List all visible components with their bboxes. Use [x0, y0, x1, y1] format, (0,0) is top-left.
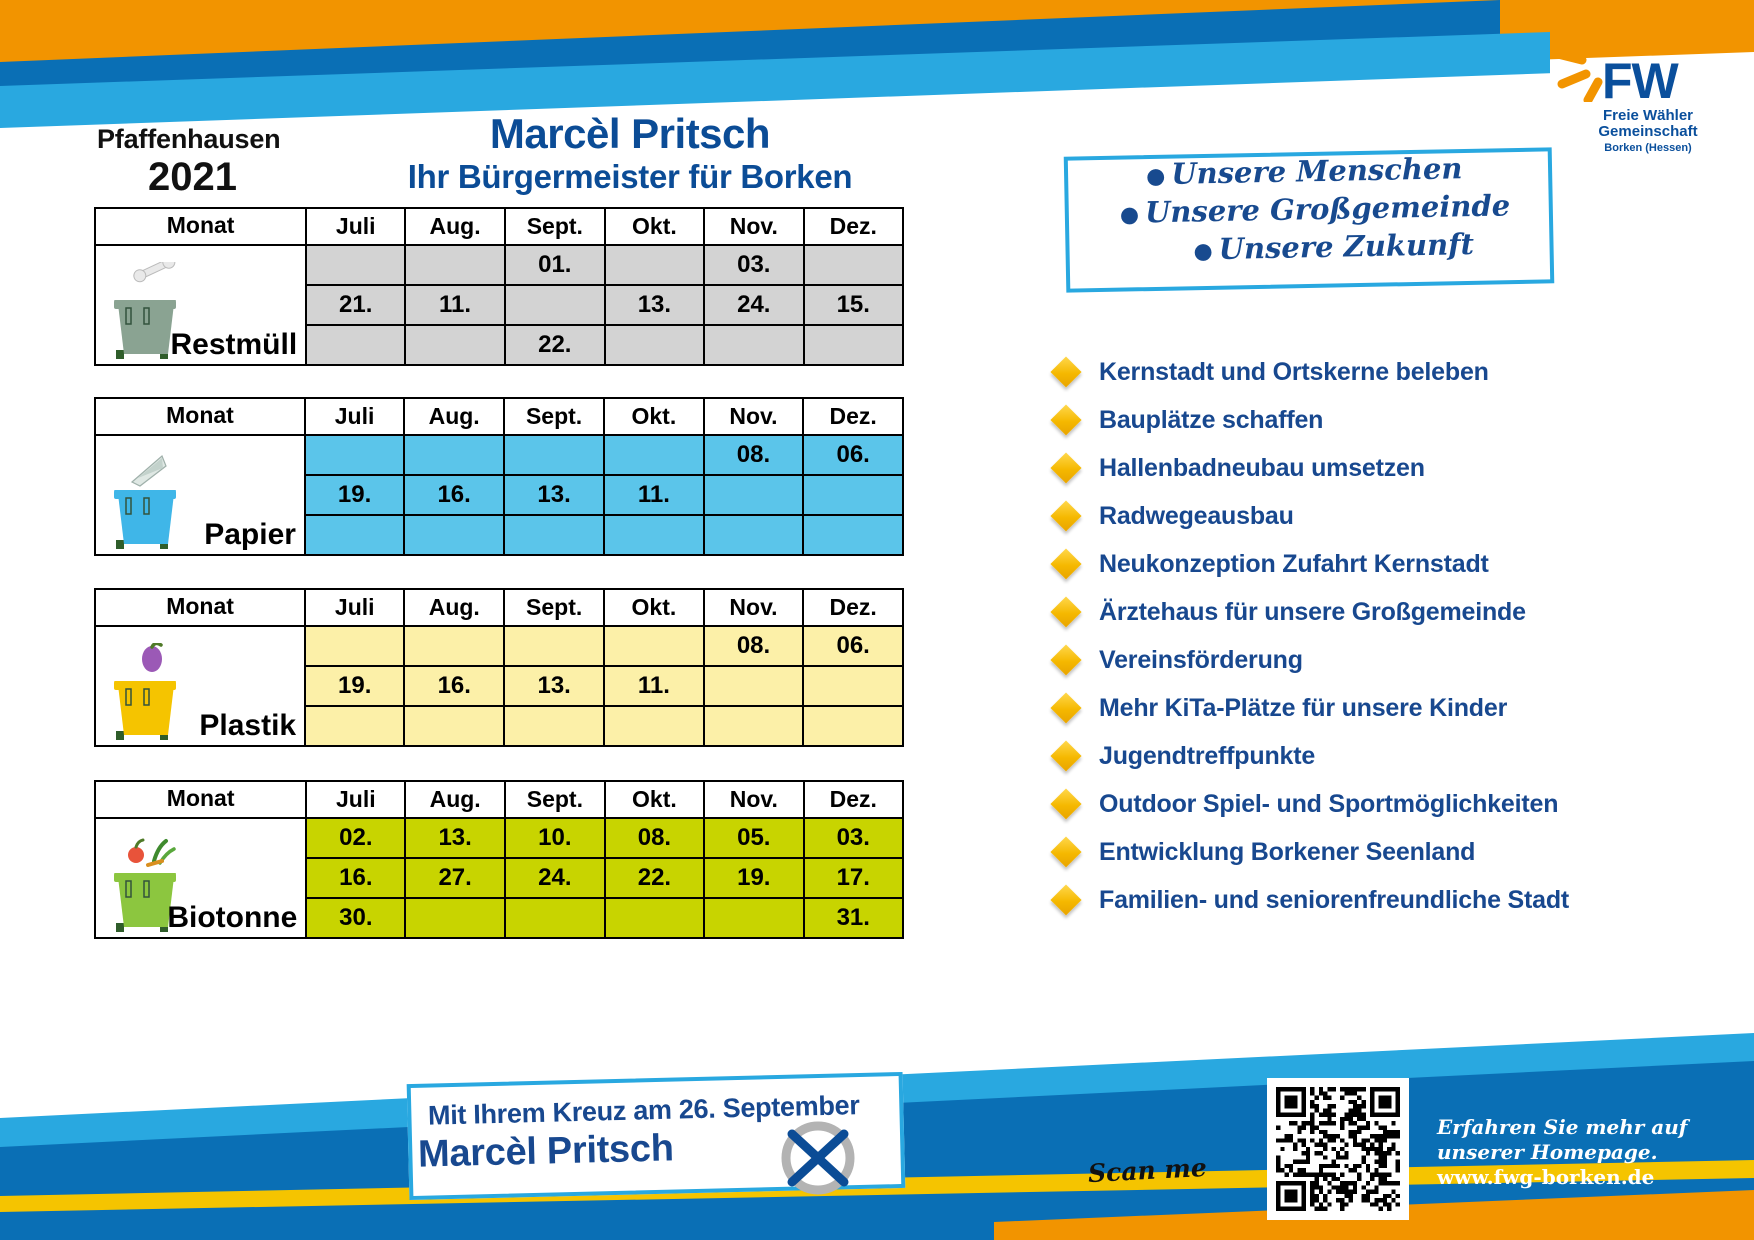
column-header-month: Dez. — [803, 398, 903, 435]
footer-url[interactable]: www.fwg-borken.de — [1437, 1165, 1737, 1190]
goal-item: Bauplätze schaffen — [1055, 396, 1735, 444]
pickup-date-cell — [504, 515, 604, 555]
goal-label: Kernstadt und Ortskerne beleben — [1099, 358, 1489, 387]
pickup-date-cell — [405, 898, 505, 938]
pickup-date-cell — [405, 245, 505, 285]
pickup-date-cell — [704, 325, 803, 365]
pickup-date-cell — [404, 435, 504, 475]
column-header-month: Okt. — [605, 208, 704, 245]
candidate-role: Ihr Bürgermeister für Borken — [330, 158, 930, 196]
diamond-icon — [1050, 644, 1081, 675]
table-row: Plastik08.06. — [95, 626, 903, 666]
poster-canvas: FW Freie Wähler Gemeinschaft Borken (Hes… — [0, 0, 1754, 1240]
column-header-month: Dez. — [804, 208, 903, 245]
logo-mark: FW — [1602, 52, 1678, 110]
pickup-date-cell — [604, 626, 704, 666]
pickup-date-cell — [804, 245, 903, 285]
footer-line-1: Erfahren Sie mehr auf — [1437, 1115, 1737, 1140]
pickup-date-cell: 03. — [704, 245, 803, 285]
pickup-date-cell — [504, 626, 604, 666]
pickup-date-cell — [306, 325, 405, 365]
diamond-icon — [1050, 836, 1081, 867]
diamond-icon — [1050, 404, 1081, 435]
pickup-date-cell — [605, 245, 704, 285]
pickup-date-cell: 19. — [305, 475, 404, 515]
goal-item: Kernstadt und Ortskerne beleben — [1055, 348, 1735, 396]
footer-text: Erfahren Sie mehr auf unserer Homepage. … — [1437, 1115, 1737, 1190]
diamond-icon — [1050, 452, 1081, 483]
pickup-date-cell: 27. — [405, 858, 505, 898]
qr-code-icon[interactable] — [1267, 1078, 1409, 1220]
logo-line-1: Freie Wähler — [1564, 108, 1732, 124]
table-row: Restmüll01.03. — [95, 245, 903, 285]
column-header-month: Dez. — [803, 589, 903, 626]
goal-label: Entwicklung Borkener Seenland — [1099, 838, 1475, 867]
bullet-dot-icon: ● — [1120, 201, 1140, 227]
pickup-date-cell — [604, 706, 704, 746]
calendar-table-plastik: MonatJuliAug.Sept.Okt.Nov.Dez.Plastik08.… — [94, 588, 904, 747]
pickup-date-cell: 11. — [405, 285, 505, 325]
pickup-date-cell: 22. — [505, 325, 605, 365]
pickup-date-cell — [604, 515, 704, 555]
goal-item: Vereinsförderung — [1055, 636, 1735, 684]
pickup-date-cell — [704, 515, 804, 555]
pickup-date-cell: 08. — [605, 818, 704, 858]
pickup-date-cell — [803, 475, 903, 515]
goal-item: Jugendtreffpunkte — [1055, 732, 1735, 780]
bullet-dot-icon: ● — [1146, 163, 1166, 189]
scan-me-label: Scan me — [1087, 1153, 1207, 1188]
slogan-item: ●Unsere Menschen — [1054, 149, 1555, 193]
pickup-date-cell — [404, 515, 504, 555]
goals-list: Kernstadt und Ortskerne belebenBauplätze… — [1055, 348, 1735, 924]
calendar-table-restmuell: MonatJuliAug.Sept.Okt.Nov.Dez.Restmüll01… — [94, 207, 904, 366]
candidate-name: Marcèl Pritsch — [340, 110, 920, 158]
pickup-date-cell — [604, 435, 704, 475]
town-name: Pfaffenhausen — [97, 124, 280, 155]
logo-line-3: Borken (Hessen) — [1564, 140, 1732, 156]
column-header-month: Dez. — [804, 781, 903, 818]
pickup-date-cell — [804, 325, 903, 365]
pickup-date-cell: 13. — [504, 475, 604, 515]
waste-type-label: Papier — [204, 518, 296, 551]
goal-item: Ärztehaus für unsere Großgemeinde — [1055, 588, 1735, 636]
bullet-dot-icon: ● — [1193, 238, 1213, 264]
pickup-date-cell: 24. — [505, 858, 605, 898]
pickup-date-cell — [605, 325, 704, 365]
pickup-date-cell — [505, 898, 605, 938]
goal-item: Familien- und seniorenfreundliche Stadt — [1055, 876, 1735, 924]
table-header-row: MonatJuliAug.Sept.Okt.Nov.Dez. — [95, 398, 903, 435]
pickup-date-cell — [704, 706, 804, 746]
waste-type-label: Restmüll — [170, 328, 297, 361]
table-row: Papier08.06. — [95, 435, 903, 475]
goal-label: Hallenbadneubau umsetzen — [1099, 454, 1425, 483]
table-header-row: MonatJuliAug.Sept.Okt.Nov.Dez. — [95, 208, 903, 245]
column-header-monat: Monat — [95, 781, 306, 818]
pickup-date-cell — [803, 666, 903, 706]
pickup-date-cell — [305, 626, 404, 666]
column-header-month: Sept. — [505, 208, 605, 245]
goal-item: Outdoor Spiel- und Sportmöglichkeiten — [1055, 780, 1735, 828]
top-orange-band — [0, 0, 1754, 115]
slogan-text: Unsere Großgemeinde — [1145, 188, 1511, 229]
table-header-row: MonatJuliAug.Sept.Okt.Nov.Dez. — [95, 589, 903, 626]
diamond-icon — [1050, 548, 1081, 579]
column-header-monat: Monat — [95, 589, 305, 626]
slogan-item: ●Unsere Großgemeinde — [1075, 187, 1556, 230]
waste-type-label: Plastik — [199, 709, 296, 742]
year-label: 2021 — [148, 155, 237, 200]
goal-label: Outdoor Spiel- und Sportmöglichkeiten — [1099, 790, 1558, 819]
column-header-month: Nov. — [704, 398, 804, 435]
pickup-date-cell: 13. — [504, 666, 604, 706]
pickup-date-cell — [803, 515, 903, 555]
column-header-month: Nov. — [704, 781, 803, 818]
waste-type-label: Biotonne — [167, 901, 297, 934]
column-header-month: Juli — [306, 208, 405, 245]
column-header-month: Aug. — [405, 781, 505, 818]
yellow-bin-icon — [104, 643, 214, 743]
pickup-date-cell — [505, 285, 605, 325]
goal-label: Ärztehaus für unsere Großgemeinde — [1099, 598, 1526, 627]
pickup-date-cell: 11. — [604, 475, 704, 515]
column-header-monat: Monat — [95, 208, 306, 245]
goal-label: Radwegeausbau — [1099, 502, 1294, 531]
column-header-month: Sept. — [504, 589, 604, 626]
pickup-date-cell: 16. — [404, 475, 504, 515]
pickup-date-cell: 31. — [804, 898, 903, 938]
goal-label: Bauplätze schaffen — [1099, 406, 1323, 435]
pickup-date-cell: 05. — [704, 818, 803, 858]
pickup-date-cell: 16. — [404, 666, 504, 706]
blue-bin-icon — [104, 452, 214, 552]
diamond-icon — [1050, 596, 1081, 627]
column-header-month: Aug. — [404, 589, 504, 626]
slogan-item: ●Unsere Zukunft — [1111, 225, 1556, 268]
goal-item: Entwicklung Borkener Seenland — [1055, 828, 1735, 876]
goal-label: Familien- und seniorenfreundliche Stadt — [1099, 886, 1569, 915]
column-header-month: Sept. — [505, 781, 605, 818]
pickup-date-cell: 21. — [306, 285, 405, 325]
pickup-date-cell — [803, 706, 903, 746]
pickup-date-cell — [704, 666, 804, 706]
table-header-row: MonatJuliAug.Sept.Okt.Nov.Dez. — [95, 781, 903, 818]
pickup-date-cell: 03. — [804, 818, 903, 858]
diamond-icon — [1050, 356, 1081, 387]
goal-item: Mehr KiTa-Plätze für unsere Kinder — [1055, 684, 1735, 732]
column-header-month: Okt. — [604, 398, 704, 435]
pickup-date-cell: 17. — [804, 858, 903, 898]
goal-item: Radwegeausbau — [1055, 492, 1735, 540]
slogan-text: Unsere Zukunft — [1218, 227, 1474, 266]
column-header-monat: Monat — [95, 398, 305, 435]
pickup-date-cell: 19. — [704, 858, 803, 898]
waste-type-cell-papier: Papier — [95, 435, 305, 555]
slogan-list: ●Unsere Menschen ●Unsere Großgemeinde ●U… — [1084, 145, 1556, 272]
pickup-date-cell: 08. — [704, 435, 804, 475]
fw-logo: FW Freie Wähler Gemeinschaft Borken (Hes… — [1542, 8, 1732, 173]
goal-label: Neukonzeption Zufahrt Kernstadt — [1099, 550, 1489, 579]
table-row: Biotonne02.13.10.08.05.03. — [95, 818, 903, 858]
column-header-month: Nov. — [704, 589, 804, 626]
pickup-date-cell: 02. — [306, 818, 405, 858]
goal-label: Mehr KiTa-Plätze für unsere Kinder — [1099, 694, 1507, 723]
pickup-date-cell: 16. — [306, 858, 405, 898]
pickup-date-cell: 19. — [305, 666, 404, 706]
calendar-table-papier: MonatJuliAug.Sept.Okt.Nov.Dez.Papier08.0… — [94, 397, 904, 556]
pickup-date-cell — [305, 435, 404, 475]
pickup-date-cell: 06. — [803, 626, 903, 666]
goal-label: Vereinsförderung — [1099, 646, 1303, 675]
goal-label: Jugendtreffpunkte — [1099, 742, 1315, 771]
pickup-date-cell — [305, 515, 404, 555]
pickup-date-cell: 30. — [306, 898, 405, 938]
goal-item: Hallenbadneubau umsetzen — [1055, 444, 1735, 492]
waste-type-cell-restmuell: Restmüll — [95, 245, 306, 365]
waste-type-cell-plastik: Plastik — [95, 626, 305, 746]
diamond-icon — [1050, 692, 1081, 723]
pickup-date-cell: 13. — [605, 285, 704, 325]
pickup-date-cell — [404, 706, 504, 746]
pickup-date-cell: 24. — [704, 285, 803, 325]
pickup-date-cell: 13. — [405, 818, 505, 858]
column-header-month: Okt. — [604, 589, 704, 626]
goal-item: Neukonzeption Zufahrt Kernstadt — [1055, 540, 1735, 588]
column-header-month: Juli — [305, 398, 404, 435]
column-header-month: Nov. — [704, 208, 803, 245]
pickup-date-cell: 01. — [505, 245, 605, 285]
waste-type-cell-biotonne: Biotonne — [95, 818, 306, 938]
pickup-date-cell: 06. — [803, 435, 903, 475]
pickup-date-cell: 22. — [605, 858, 704, 898]
column-header-month: Aug. — [405, 208, 505, 245]
footer-line-2: unserer Homepage. — [1437, 1140, 1737, 1165]
pickup-date-cell — [504, 435, 604, 475]
pickup-date-cell — [605, 898, 704, 938]
pickup-date-cell — [504, 706, 604, 746]
diamond-icon — [1050, 740, 1081, 771]
column-header-month: Okt. — [605, 781, 704, 818]
pickup-date-cell — [704, 475, 804, 515]
pickup-date-cell: 10. — [505, 818, 605, 858]
pickup-date-cell — [704, 898, 803, 938]
qr-code-pattern — [1276, 1087, 1400, 1211]
logo-line-2: Gemeinschaft — [1564, 124, 1732, 140]
logo-subtitle: Freie Wähler Gemeinschaft Borken (Hessen… — [1564, 108, 1732, 156]
column-header-month: Sept. — [504, 398, 604, 435]
pickup-date-cell — [405, 325, 505, 365]
ballot-cross-icon — [780, 1120, 856, 1196]
column-header-month: Juli — [305, 589, 404, 626]
diamond-icon — [1050, 500, 1081, 531]
pickup-date-cell: 08. — [704, 626, 804, 666]
pickup-date-cell: 15. — [804, 285, 903, 325]
diamond-icon — [1050, 788, 1081, 819]
diamond-icon — [1050, 884, 1081, 915]
calendar-table-biotonne: MonatJuliAug.Sept.Okt.Nov.Dez.Biotonne02… — [94, 780, 904, 939]
pickup-date-cell — [306, 245, 405, 285]
pickup-date-cell — [305, 706, 404, 746]
slogan-text: Unsere Menschen — [1171, 151, 1463, 191]
column-header-month: Juli — [306, 781, 405, 818]
column-header-month: Aug. — [404, 398, 504, 435]
pickup-date-cell — [404, 626, 504, 666]
pickup-date-cell: 11. — [604, 666, 704, 706]
